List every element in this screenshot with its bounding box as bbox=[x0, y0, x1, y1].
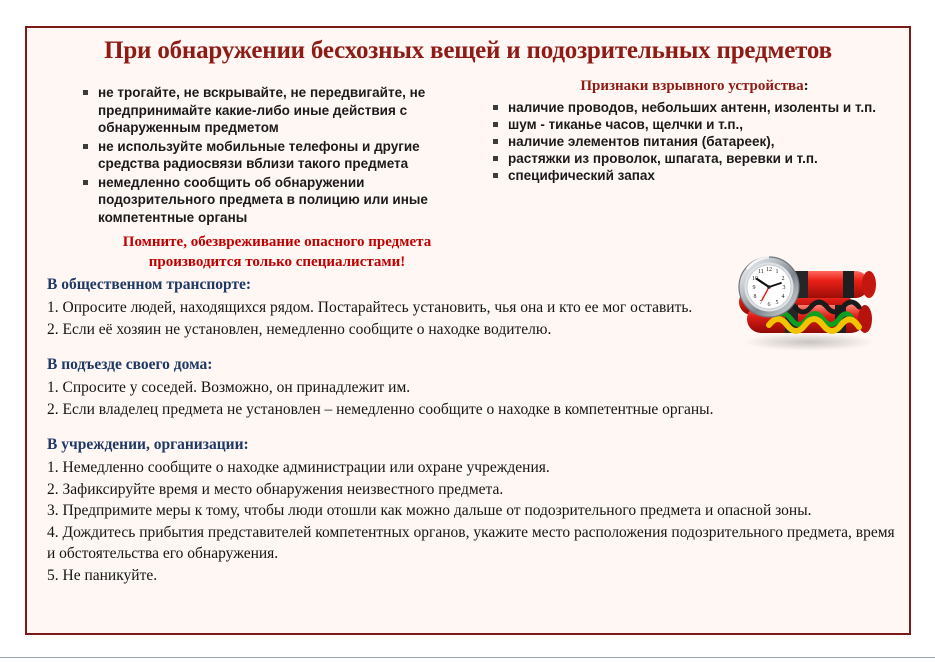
warning-line-1: Помните, обезвреживание опасного предмет… bbox=[82, 232, 472, 252]
section-line: 2. Если владелец предмета не установлен … bbox=[47, 399, 895, 421]
list-item: шум - тиканье часов, щелчки и т.п., bbox=[492, 116, 897, 133]
safety-rules-list: не трогайте, не вскрывайте, не передвига… bbox=[82, 84, 482, 226]
section-heading: В общественном транспорте: bbox=[47, 274, 895, 296]
list-item: специфический запах bbox=[492, 167, 897, 184]
page-title: При обнаружении бесхозных вещей и подозр… bbox=[27, 34, 909, 68]
list-item: немедленно сообщить об обнаружении подоз… bbox=[82, 174, 482, 227]
poster-frame: При обнаружении бесхозных вещей и подозр… bbox=[25, 26, 911, 635]
svg-text:12: 12 bbox=[766, 267, 772, 273]
section-line: 1. Опросите людей, находящихся рядом. По… bbox=[47, 297, 895, 319]
section-line: 4. Дождитесь прибытия представителей ком… bbox=[47, 522, 895, 565]
section-building-entrance: В подъезде своего дома: 1. Спросите у со… bbox=[47, 354, 895, 420]
section-institution-organization: В учреждении, организации: 1. Немедленно… bbox=[47, 434, 895, 586]
explosive-signs-list: наличие проводов, небольших антенн, изол… bbox=[492, 99, 897, 184]
section-heading: В учреждении, организации: bbox=[47, 434, 895, 456]
warning-line-2: производится только специалистами! bbox=[82, 252, 472, 272]
instruction-sections: В общественном транспорте: 1. Опросите л… bbox=[27, 274, 909, 586]
list-item: не используйте мобильные телефоны и друг… bbox=[82, 138, 482, 173]
explosive-signs-heading-text: Признаки взрывного устройства bbox=[580, 78, 803, 94]
section-public-transport: В общественном транспорте: 1. Опросите л… bbox=[47, 274, 895, 340]
list-item: наличие проводов, небольших антенн, изол… bbox=[492, 99, 897, 116]
section-heading: В подъезде своего дома: bbox=[47, 354, 895, 376]
section-line: 2. Зафиксируйте время и место обнаружени… bbox=[47, 479, 895, 501]
heading-colon: : bbox=[804, 78, 809, 94]
list-item: не трогайте, не вскрывайте, не передвига… bbox=[82, 84, 482, 137]
upper-two-column-block: не трогайте, не вскрывайте, не передвига… bbox=[27, 68, 909, 274]
bottom-divider bbox=[0, 657, 935, 658]
section-line: 2. Если её хозяин не установлен, немедле… bbox=[47, 319, 895, 341]
explosive-signs-heading: Признаки взрывного устройства: bbox=[492, 76, 897, 97]
warning-callout: Помните, обезвреживание опасного предмет… bbox=[82, 232, 482, 272]
section-line: 5. Не паникуйте. bbox=[47, 565, 895, 587]
explosive-signs-column: Признаки взрывного устройства: наличие п… bbox=[492, 76, 897, 184]
section-line: 1. Спросите у соседей. Возможно, он прин… bbox=[47, 377, 895, 399]
section-line: 1. Немедленно сообщите о находке админис… bbox=[47, 457, 895, 479]
bezel-highlight bbox=[747, 257, 769, 269]
safety-rules-column: не трогайте, не вскрывайте, не передвига… bbox=[82, 84, 482, 272]
list-item: наличие элементов питания (батареек), bbox=[492, 133, 897, 150]
section-line: 3. Предпримите меры к тому, чтобы люди о… bbox=[47, 500, 895, 522]
list-item: растяжки из проволок, шпагата, веревки и… bbox=[492, 150, 897, 167]
